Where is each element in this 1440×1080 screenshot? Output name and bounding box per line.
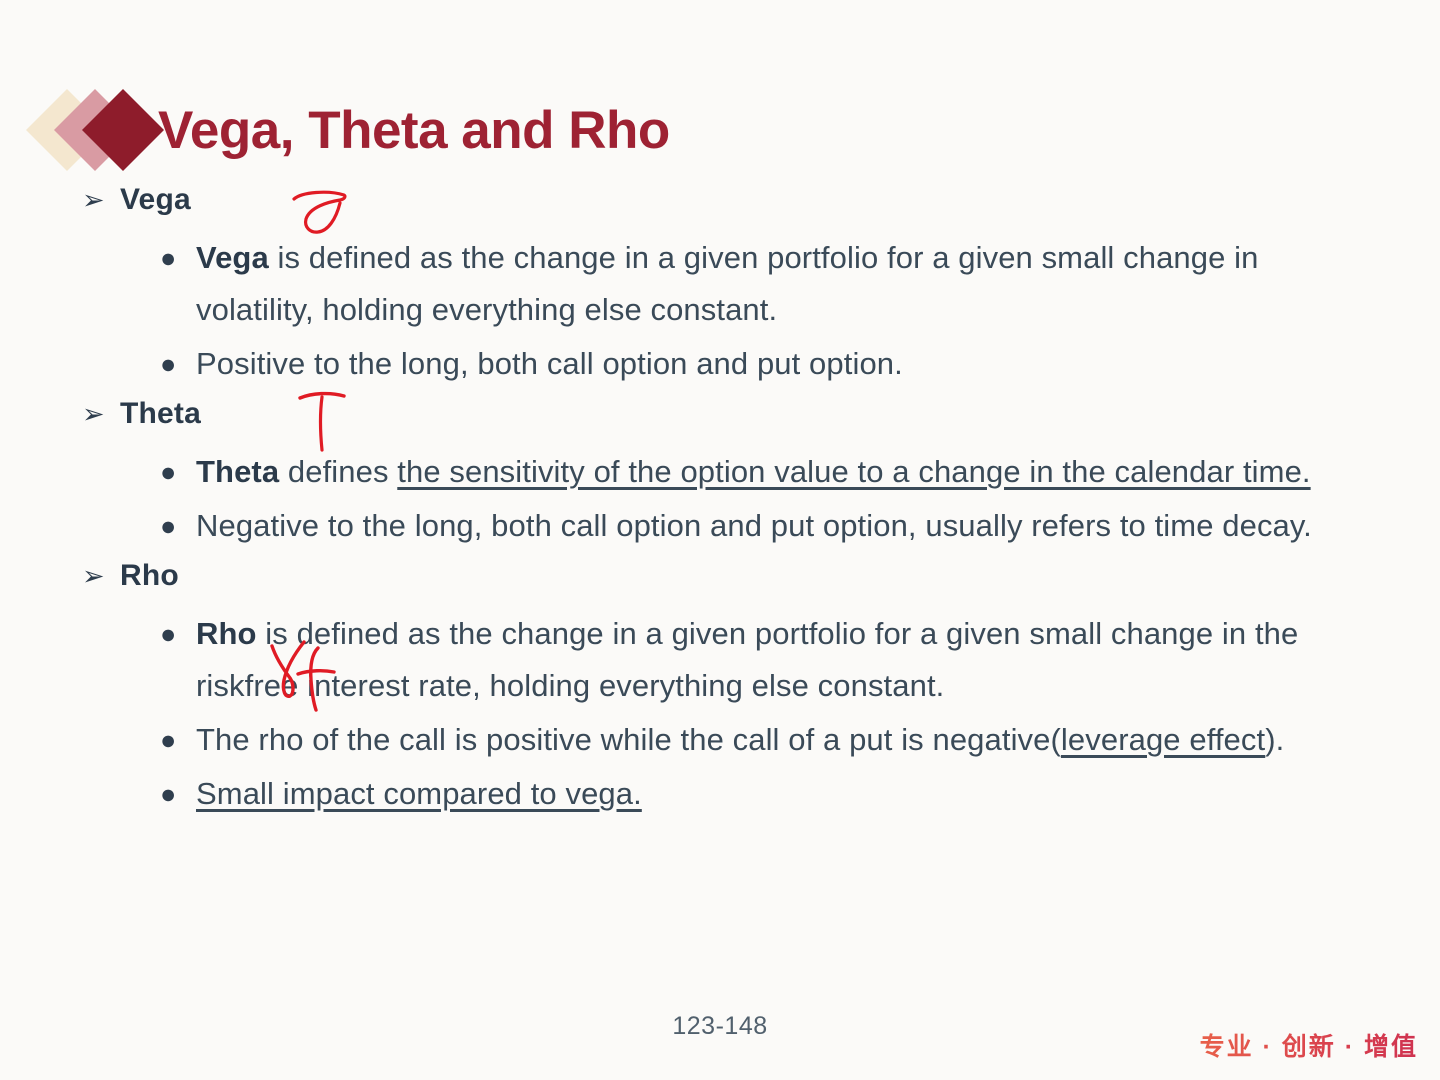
bullet-text: Positive to the long, both call option a…: [196, 338, 903, 390]
outline-heading-theta: ➢ Theta: [0, 392, 1440, 446]
bullet-tail: ).: [1265, 722, 1284, 757]
list-item: ● Small impact compared to vega.: [0, 768, 1440, 820]
bullet-body: is defined as the change in a given port…: [196, 616, 1298, 703]
page-title: Vega, Theta and Rho: [158, 104, 670, 157]
bullet-lead-term: Rho: [196, 616, 257, 651]
bullet-lead-term: Vega: [196, 240, 269, 275]
bullet-lead-term: Theta: [196, 454, 279, 489]
bullet-underlined: Small impact compared to vega.: [196, 768, 642, 820]
dot-bullet-icon: ●: [160, 768, 196, 820]
list-item: ● Rho is defined as the change in a give…: [0, 608, 1440, 712]
three-diamonds-logo: [38, 87, 156, 173]
outline-heading-rho: ➢ Rho: [0, 554, 1440, 608]
arrow-bullet-icon: ➢: [82, 178, 120, 222]
slide-canvas: Vega, Theta and Rho ➢ Vega ● Vega is def…: [0, 0, 1440, 1080]
bullet-text: The rho of the call is positive while th…: [196, 714, 1284, 766]
bullet-text: Negative to the long, both call option a…: [196, 500, 1312, 552]
arrow-bullet-icon: ➢: [82, 392, 120, 436]
outline-heading-vega: ➢ Vega: [0, 178, 1440, 232]
arrow-bullet-icon: ➢: [82, 554, 120, 598]
dot-bullet-icon: ●: [160, 714, 196, 766]
list-item: ● Theta defines the sensitivity of the o…: [0, 446, 1440, 498]
dot-bullet-icon: ●: [160, 232, 196, 284]
slide-header: Vega, Theta and Rho: [38, 82, 670, 178]
bullet-text: Rho is defined as the change in a given …: [196, 608, 1321, 712]
list-item: ● Vega is defined as the change in a giv…: [0, 232, 1440, 336]
bullet-body: defines: [279, 454, 397, 489]
dot-bullet-icon: ●: [160, 500, 196, 552]
outline-heading-label: Vega: [120, 178, 191, 222]
bullet-text: Theta defines the sensitivity of the opt…: [196, 446, 1311, 498]
outline-heading-label: Rho: [120, 554, 179, 598]
dot-bullet-icon: ●: [160, 446, 196, 498]
bullet-text: Vega is defined as the change in a given…: [196, 232, 1321, 336]
bullet-underlined: the sensitivity of the option value to a…: [397, 454, 1310, 489]
list-item: ● Positive to the long, both call option…: [0, 338, 1440, 390]
dot-bullet-icon: ●: [160, 338, 196, 390]
bullet-underlined: leverage effect: [1061, 722, 1265, 757]
list-item: ● Negative to the long, both call option…: [0, 500, 1440, 552]
outline-heading-label: Theta: [120, 392, 201, 436]
bullet-body: is defined as the change in a given port…: [196, 240, 1258, 327]
dot-bullet-icon: ●: [160, 608, 196, 660]
brand-slogan: 专业 · 创新 · 增值: [1200, 1027, 1418, 1063]
list-item: ● The rho of the call is positive while …: [0, 714, 1440, 766]
bullet-body: The rho of the call is positive while th…: [196, 722, 1061, 757]
outline-body: ➢ Vega ● Vega is defined as the change i…: [0, 178, 1440, 822]
